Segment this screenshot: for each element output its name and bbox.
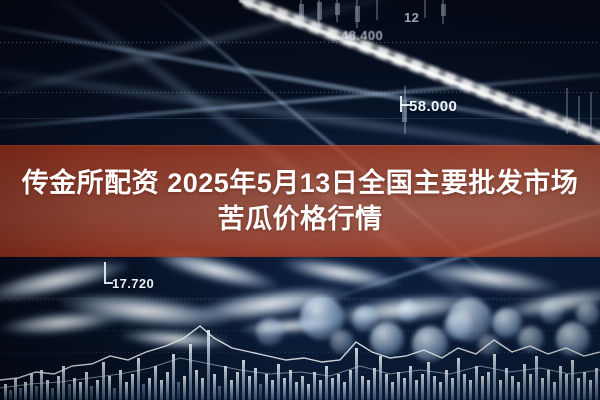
title-banner: 传金所配资 2025年5月13日全国主要批发市场 苦瓜价格行情 [0,145,600,257]
page-title-line-1: 传金所配资 2025年5月13日全国主要批发市场 [22,165,579,201]
page-title-line-2: 苦瓜价格行情 [218,201,383,237]
banner-image: 12 48.400 58.000 17.720 传金所配资 2025年5月13日… [0,0,600,400]
